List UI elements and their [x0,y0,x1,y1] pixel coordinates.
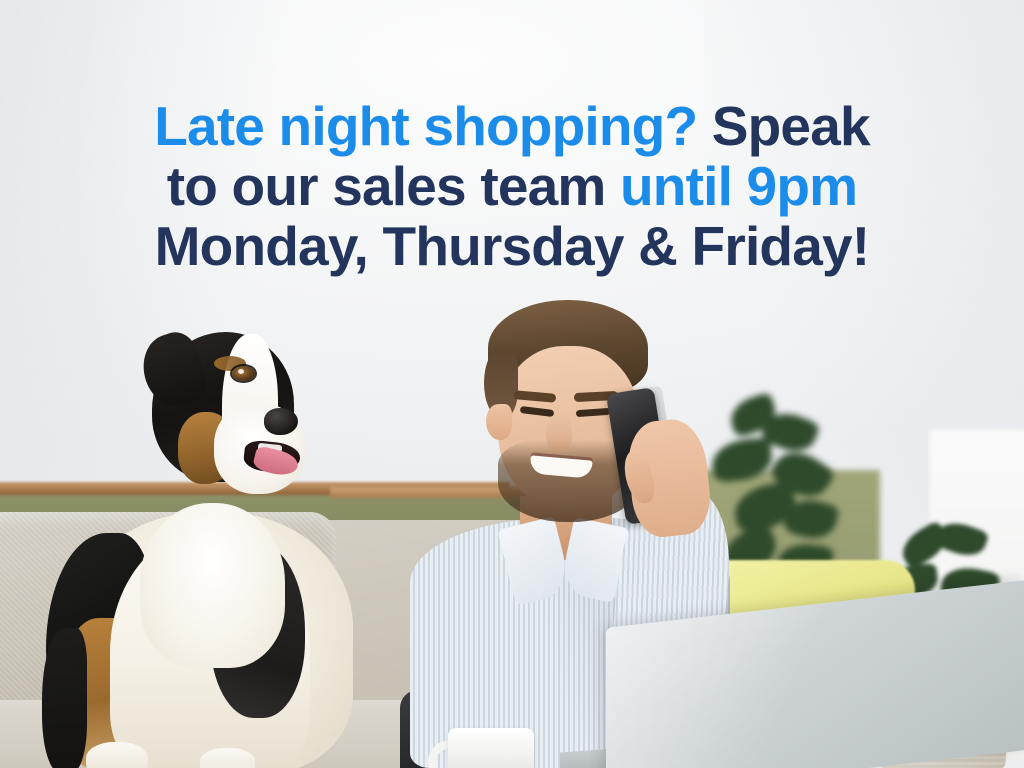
dog-paw-left [86,742,148,768]
banner-image: Late night shopping? Speak to our sales … [0,0,1024,768]
headline-line-1-accent: Late night shopping? [154,95,697,157]
dog-eye-highlight [238,369,244,374]
dog-eye [232,366,255,381]
dog-nose [264,408,298,435]
man-ear [486,404,512,440]
dog-paw-right [200,748,255,768]
headline-line-2: to our sales team until 9pm [0,156,1024,216]
dog-marking-black-tail [42,628,87,768]
headline-line-3-primary: Monday, Thursday & Friday! [155,215,870,277]
headline-line-2-primary: to our sales team [167,155,620,217]
dog-neck-white [140,503,285,668]
headline-line-1: Late night shopping? Speak [0,96,1024,156]
headline: Late night shopping? Speak to our sales … [0,96,1024,276]
headline-line-2-accent: until 9pm [620,155,857,217]
headline-line-3: Monday, Thursday & Friday! [0,216,1024,276]
dog-head [148,324,308,502]
coffee-mug [448,728,534,768]
headline-line-1-primary: Speak [697,95,870,157]
man-nose [546,416,572,454]
dog [40,318,420,768]
